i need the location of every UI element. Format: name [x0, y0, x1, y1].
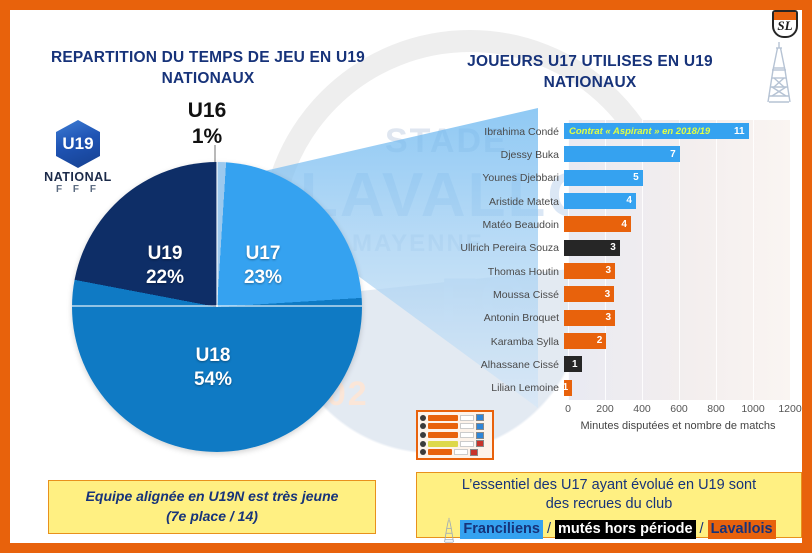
legend-mutes: mutés hors période	[555, 520, 696, 539]
bar-track: 3	[564, 307, 786, 330]
shield-initials: SL	[774, 12, 796, 36]
bar-value-label: 3	[605, 312, 611, 323]
pie-separator-left	[72, 305, 218, 307]
thumbnail-row	[420, 414, 490, 421]
thumbnail-gap	[460, 441, 474, 447]
bar-value-label: 1	[563, 382, 569, 393]
x-axis-title: Minutes disputées et nombre de matchs	[542, 420, 802, 432]
x-axis-tick: 400	[633, 403, 651, 415]
bar-track: Contrat « Aspirant » en 2018/1911	[564, 120, 786, 143]
bar-category-label: Djessy Buka	[422, 149, 564, 161]
bar-track: 4	[564, 190, 786, 213]
bar-track: 5	[564, 167, 786, 190]
bar-value-label: 2	[597, 335, 603, 346]
left-callout-line-2: (7e place / 14)	[49, 507, 375, 527]
bar-value-label: 5	[633, 172, 639, 183]
right-callout-line-1: L’essentiel des U17 ayant évolué en U19 …	[417, 476, 801, 495]
pie-label-u18: U18 54%	[168, 344, 258, 392]
bar-category-label: Lilian Lemoine	[422, 382, 564, 394]
pie-label-u17-pct: 23%	[228, 266, 298, 290]
left-callout-box: Equipe alignée en U19N est très jeune (7…	[48, 480, 376, 534]
bar-row: Moussa Cissé3	[422, 283, 790, 306]
pie-label-u18-name: U18	[168, 344, 258, 368]
pie-label-u17: U17 23%	[228, 242, 298, 290]
legend-lavallois: Lavallois	[708, 520, 776, 539]
thumbnail-avatar-icon	[420, 441, 426, 447]
bar-track: 7	[564, 143, 786, 166]
bar-track: 3	[564, 283, 786, 306]
thumbnail-bar	[428, 423, 458, 429]
pie-separator-top	[216, 162, 218, 307]
thumbnail-square-icon	[476, 432, 484, 439]
bar-row: Alhassane Cissé1	[422, 353, 790, 376]
bar[interactable]: 5	[564, 170, 643, 186]
bar-row: Thomas Houtin3	[422, 260, 790, 283]
shield-body: SL	[772, 10, 798, 38]
bar-row: Djessy Buka7	[422, 143, 790, 166]
x-axis-tick: 200	[596, 403, 614, 415]
bar-track: 2	[564, 330, 786, 353]
bar-value-label: 3	[605, 265, 611, 276]
pie-label-u16-pct: 1%	[162, 124, 252, 150]
legend-franciliens: Franciliens	[460, 520, 543, 539]
bar-value-label: 4	[626, 195, 632, 206]
pie-label-u19-name: U19	[130, 242, 200, 266]
bar-category-label: Ibrahima Condé	[422, 126, 564, 138]
thumbnail-gap	[454, 449, 468, 455]
club-shield-icon: SL	[772, 10, 800, 42]
thumbnail-gap	[460, 432, 474, 438]
eiffel-tower-small-icon	[442, 517, 456, 543]
bar[interactable]: 7	[564, 146, 680, 162]
bar-row: Antonin Broquet3	[422, 307, 790, 330]
thumbnail-avatar-icon	[420, 432, 426, 438]
bar[interactable]: 4	[564, 216, 631, 232]
gridline	[790, 120, 791, 400]
legend-separator-1: /	[547, 520, 551, 539]
u19-badge-text: U19	[56, 120, 100, 168]
x-axis-tick: 600	[670, 403, 688, 415]
thumbnail-bar	[428, 432, 458, 438]
x-axis-tick: 1200	[778, 403, 801, 415]
right-chart-title: JOUEURS U17 UTILISES EN U19 NATIONAUX	[440, 52, 740, 94]
bar-value-label: 4	[621, 219, 627, 230]
bar-category-label: Aristide Mateta	[422, 196, 564, 208]
thumbnail-avatar-icon	[420, 449, 426, 455]
bar-value-label: 3	[610, 242, 616, 253]
thumbnail-row	[420, 440, 490, 447]
bar[interactable]: 1	[564, 356, 582, 372]
pie-label-u19-pct: 22%	[130, 266, 200, 290]
roster-thumbnail-image[interactable]	[416, 410, 494, 460]
bar-value-label: 1	[572, 359, 578, 370]
bar-track: 3	[564, 260, 786, 283]
x-axis-tick: 1000	[741, 403, 764, 415]
x-axis: 020040060080010001200	[568, 401, 790, 417]
bar-track: 1	[564, 353, 786, 376]
x-axis-tick: 800	[707, 403, 725, 415]
bar[interactable]: 2	[564, 333, 606, 349]
bar-value-label: 3	[605, 289, 611, 300]
thumbnail-bar	[428, 415, 458, 421]
bar-row: Younes Djebbari5	[422, 167, 790, 190]
bar[interactable]: 1	[564, 380, 572, 396]
pie-label-u17-name: U17	[228, 242, 298, 266]
bar-category-label: Ullrich Pereira Souza	[422, 242, 564, 254]
thumbnail-row	[420, 431, 490, 438]
thumbnail-bar	[428, 449, 452, 455]
right-callout-line-2: des recrues du club	[417, 495, 801, 514]
left-callout-line-1: Equipe alignée en U19N est très jeune	[49, 487, 375, 507]
bar-row: Aristide Mateta4	[422, 190, 790, 213]
bar-category-label: Thomas Houtin	[422, 266, 564, 278]
thumbnail-gap	[460, 423, 474, 429]
bar-category-label: Moussa Cissé	[422, 289, 564, 301]
thumbnail-square-icon	[476, 423, 484, 430]
bar-value-label: 11	[734, 126, 745, 137]
pie-label-u16-name: U16	[162, 98, 252, 124]
pie-label-u18-pct: 54%	[168, 368, 258, 392]
bar-rows: Ibrahima CondéContrat « Aspirant » en 20…	[422, 120, 790, 400]
bar-row: Lilian Lemoine1	[422, 377, 790, 400]
bar-category-label: Matéo Beaudoin	[422, 219, 564, 231]
bar-track: 3	[564, 237, 786, 260]
pie-label-u16: U16 1%	[162, 98, 252, 151]
bar-track: 1	[564, 377, 786, 400]
bar[interactable]: 4	[564, 193, 636, 209]
x-axis-tick: 0	[565, 403, 571, 415]
left-chart-title: REPARTITION DU TEMPS DE JEU EN U19 NATIO…	[38, 48, 378, 90]
thumbnail-row	[420, 449, 490, 456]
bar-row: Ullrich Pereira Souza3	[422, 237, 790, 260]
u19-badge-icon: U19	[56, 120, 100, 168]
thumbnail-gap	[460, 415, 474, 421]
bar-category-label: Alhassane Cissé	[422, 359, 564, 371]
legend-separator-2: /	[700, 520, 704, 539]
thumbnail-row	[420, 423, 490, 430]
bar-category-label: Karamba Sylla	[422, 336, 564, 348]
bar-category-label: Younes Djebbari	[422, 172, 564, 184]
bar-value-label: 7	[670, 149, 676, 160]
bar-row: Matéo Beaudoin4	[422, 213, 790, 236]
color-legend: Franciliens / mutés hors période / Laval…	[417, 517, 801, 543]
bar[interactable]: 3	[564, 286, 614, 302]
bar-chart: Ibrahima CondéContrat « Aspirant » en 20…	[422, 120, 802, 450]
bar-annotation: Contrat « Aspirant » en 2018/19	[569, 126, 710, 137]
thumbnail-avatar-icon	[420, 423, 426, 429]
slide-canvas: STADE LAVALLOIS MAYENNE FC 1902 REPARTIT…	[10, 10, 802, 543]
thumbnail-square-icon	[476, 440, 484, 447]
thumbnail-bar	[428, 441, 458, 447]
bar-row: Ibrahima CondéContrat « Aspirant » en 20…	[422, 120, 790, 143]
pie-label-u19: U19 22%	[130, 242, 200, 290]
bar[interactable]: Contrat « Aspirant » en 2018/1911	[564, 123, 749, 139]
right-callout-box: L’essentiel des U17 ayant évolué en U19 …	[416, 472, 802, 538]
pie-chart: U17 23% U19 22% U18 54%	[72, 162, 362, 452]
pie-separator-right	[216, 305, 362, 307]
thumbnail-square-icon	[476, 414, 484, 421]
eiffel-tower-icon	[762, 40, 796, 104]
bar-category-label: Antonin Broquet	[422, 312, 564, 324]
thumbnail-avatar-icon	[420, 415, 426, 421]
bar-track: 4	[564, 213, 786, 236]
slide-root: STADE LAVALLOIS MAYENNE FC 1902 REPARTIT…	[0, 0, 812, 553]
bar[interactable]: 3	[564, 240, 620, 256]
bar-row: Karamba Sylla2	[422, 330, 790, 353]
bar[interactable]: 3	[564, 310, 615, 326]
thumbnail-square-icon	[470, 449, 478, 456]
bar[interactable]: 3	[564, 263, 615, 279]
